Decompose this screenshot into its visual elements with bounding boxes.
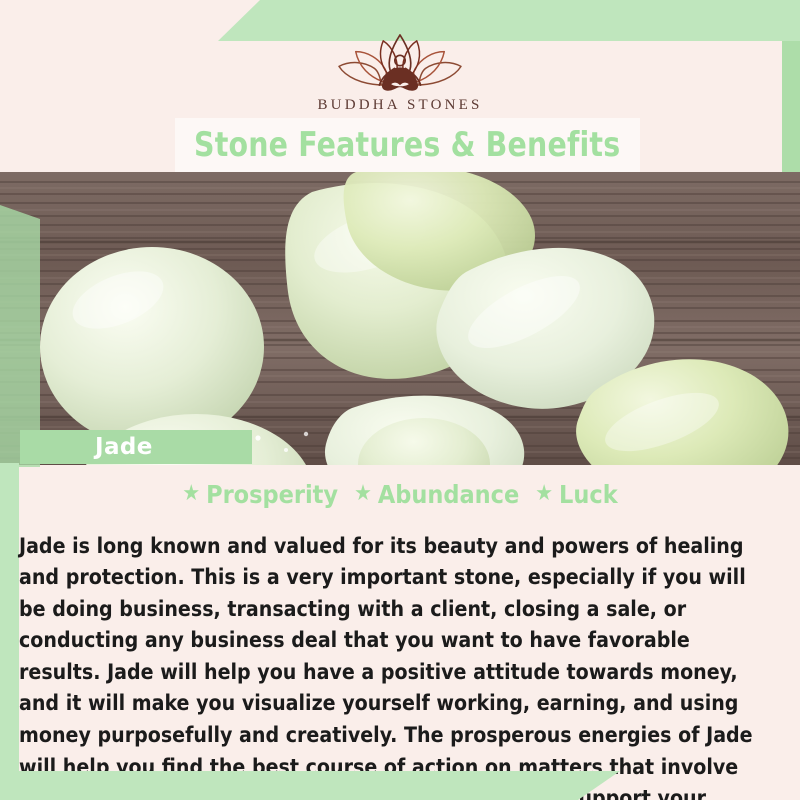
infographic-page: BUDDHA STONES Stone Features & Benefits: [0, 0, 800, 800]
lotus-meditation-icon: [325, 30, 475, 92]
benefit-label: Luck: [559, 480, 618, 509]
star-icon: ★: [354, 483, 372, 505]
title-banner: Stone Features & Benefits: [175, 118, 640, 172]
brand-name: BUDDHA STONES: [317, 97, 482, 114]
page-title: Stone Features & Benefits: [194, 125, 620, 165]
stone-name-label: Jade: [20, 430, 252, 464]
header: BUDDHA STONES: [0, 0, 800, 118]
benefit-item-luck: ★ Luck: [535, 480, 617, 509]
benefits-row: ★ Prosperity ★ Abundance ★ Luck: [0, 478, 800, 510]
stone-name-text: Jade: [95, 434, 153, 460]
decor-left-green-strip-lower: [0, 463, 19, 800]
benefit-label: Abundance: [378, 480, 519, 509]
benefit-label: Prosperity: [206, 480, 338, 509]
benefit-item-abundance: ★ Abundance: [354, 480, 519, 509]
star-icon: ★: [182, 483, 200, 505]
stone-description: Jade is long known and valued for its be…: [19, 531, 772, 800]
star-icon: ★: [535, 483, 553, 505]
benefit-item-prosperity: ★ Prosperity: [182, 480, 338, 509]
stone-photo-artwork: [0, 172, 800, 465]
decor-bottom-green-band: [0, 771, 620, 800]
stone-photo: [0, 172, 800, 465]
decor-left-green-strip-over-photo: [0, 205, 40, 467]
